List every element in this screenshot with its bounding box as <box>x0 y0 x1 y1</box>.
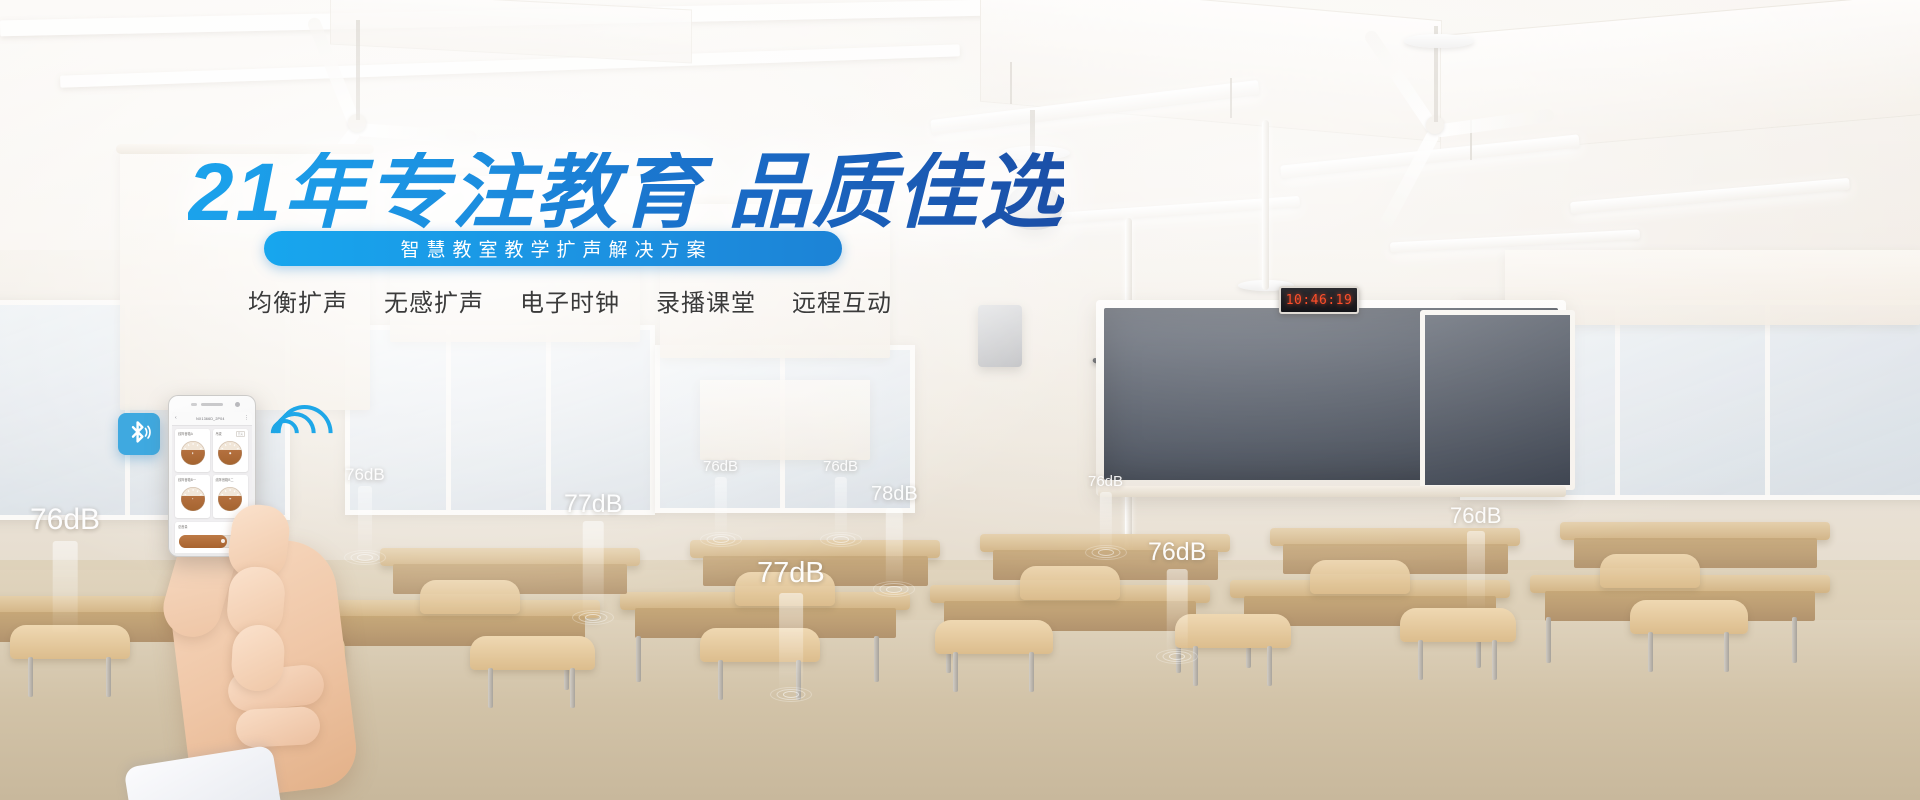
knob-tick <box>192 489 193 491</box>
phone-earpiece <box>201 403 223 406</box>
knob-tick <box>192 443 193 445</box>
speaker-rod <box>1030 110 1035 152</box>
subtitle-text: 智慧教室教学扩声解决方案 <box>393 235 712 262</box>
fan-rod <box>356 20 360 120</box>
page-title: 21年专注教育 品质佳选 <box>188 152 1064 234</box>
app-top-bar: ‹ NX1366D_2P04 ⋮ <box>172 412 252 426</box>
knob-tick <box>187 490 189 492</box>
menu-icon[interactable]: ⋮ <box>244 416 249 421</box>
student-chair <box>735 572 835 642</box>
feature-list: 均衡扩声无感扩声电子时钟录播课堂远程互动 <box>248 283 892 318</box>
knob-tick <box>233 444 235 446</box>
subtitle-pill: 智慧教室教学扩声解决方案 <box>264 231 842 266</box>
student-chair <box>1175 614 1291 692</box>
knob-center-dot <box>229 498 231 500</box>
volume-knob[interactable] <box>181 487 205 511</box>
speaker-card-2[interactable]: 线阵音箱B一 <box>175 475 210 518</box>
feature-item-4: 远程互动 <box>792 283 892 318</box>
speaker-card-0[interactable]: 线阵音箱A <box>175 429 210 472</box>
knob-center-dot <box>192 452 194 454</box>
front-fingers <box>226 505 300 715</box>
knob-tick <box>196 444 198 446</box>
student-chair <box>1600 554 1700 622</box>
volume-slider-handle[interactable] <box>221 539 225 543</box>
feature-item-3: 录播课堂 <box>656 283 756 318</box>
volume-knob[interactable] <box>218 441 242 465</box>
electronic-clock: 10:46:19 <box>1279 286 1359 314</box>
feature-item-2: 电子时钟 <box>520 283 620 318</box>
knob-tick <box>221 493 223 495</box>
knob-tick <box>184 448 186 450</box>
light-hanger <box>1230 78 1232 118</box>
chalk-tray <box>1098 486 1566 497</box>
banner-stage: 10:46:19 76dB76dB77dB77dB76dB76dB78dB76d… <box>0 0 1920 800</box>
knob-tick <box>196 490 198 492</box>
knob-tick <box>199 493 201 495</box>
phone-sensor <box>191 403 197 406</box>
speaker-card-label: 线阵音箱A <box>178 431 210 436</box>
knob-center-dot <box>192 498 194 500</box>
student-chair <box>1400 608 1516 686</box>
knob-center-dot <box>229 452 231 454</box>
wall-speaker <box>978 305 1022 367</box>
volume-slider-fill <box>179 535 227 548</box>
light-hanger <box>1010 62 1012 104</box>
knob-tick <box>199 448 201 450</box>
knob-tick <box>236 448 238 450</box>
speaker-card-1[interactable]: 吊麦开关 <box>213 429 248 472</box>
speaker-card-label: 线阵音箱B二 <box>216 477 248 482</box>
knob-tick <box>230 443 231 445</box>
knob-tick <box>236 493 238 495</box>
blackboard-wing <box>1420 310 1575 490</box>
knob-tick <box>230 489 231 491</box>
speaker-mount <box>1404 34 1474 48</box>
student-chair <box>10 625 130 705</box>
knob-tick <box>184 493 186 495</box>
window-blind <box>700 380 870 460</box>
volume-knob[interactable] <box>181 441 205 465</box>
knob-tick <box>225 490 227 492</box>
support-pole <box>1262 120 1269 290</box>
knob-tick <box>187 444 189 446</box>
student-chair <box>1020 566 1120 634</box>
app-screen-title: NX1366D_2P04 <box>196 417 224 421</box>
speaker-card-badge[interactable]: 开关 <box>236 431 245 437</box>
feature-item-1: 无感扩声 <box>384 283 484 318</box>
feature-item-0: 均衡扩声 <box>248 283 348 318</box>
back-icon[interactable]: ‹ <box>175 416 177 421</box>
student-chair <box>1310 560 1410 628</box>
speaker-card-label: 线阵音箱B一 <box>178 477 210 482</box>
knob-tick <box>221 448 223 450</box>
knob-tick <box>233 490 235 492</box>
phone-front-camera <box>235 402 240 407</box>
knob-tick <box>225 444 227 446</box>
signal-waves-icon <box>265 385 319 433</box>
clock-time: 10:46:19 <box>1286 293 1353 308</box>
bluetooth-icon <box>118 413 160 455</box>
